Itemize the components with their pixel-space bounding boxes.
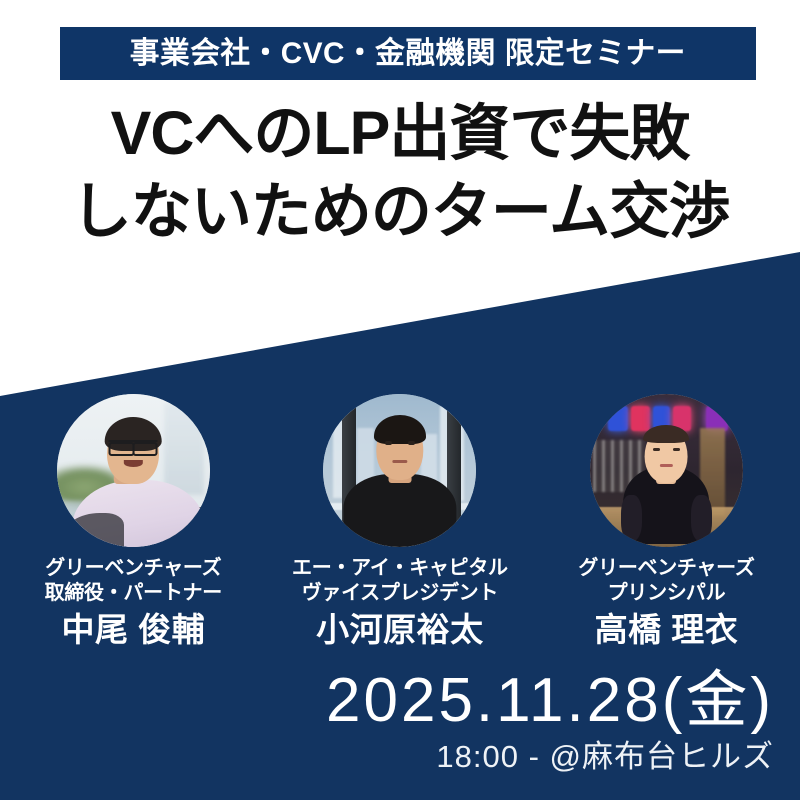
speaker-card-3: グリーベンチャーズ プリンシパル 高橋 理衣 bbox=[533, 394, 800, 650]
eyebrow-banner: 事業会社・CVC・金融機関 限定セミナー bbox=[60, 27, 756, 80]
speaker-role: 取締役・パートナー bbox=[0, 581, 267, 606]
avatar bbox=[57, 394, 210, 547]
speaker-caption: グリーベンチャーズ プリンシパル 高橋 理衣 bbox=[533, 556, 800, 650]
avatar bbox=[590, 394, 743, 547]
speaker-company: グリーベンチャーズ bbox=[533, 556, 800, 581]
speaker-role: ヴァイスプレジデント bbox=[267, 581, 534, 606]
event-date: 2025.11.28(金) bbox=[326, 666, 774, 736]
avatar bbox=[323, 394, 476, 547]
seminar-poster: 事業会社・CVC・金融機関 限定セミナー VCへのLP出資で失敗 しないためのタ… bbox=[0, 0, 800, 800]
speaker-card-1: グリーベンチャーズ 取締役・パートナー 中尾 俊輔 bbox=[0, 394, 267, 650]
speaker-caption: グリーベンチャーズ 取締役・パートナー 中尾 俊輔 bbox=[0, 556, 267, 650]
speaker-name: 中尾 俊輔 bbox=[0, 610, 267, 650]
event-details: 2025.11.28(金) 18:00 - @麻布台ヒルズ bbox=[326, 666, 774, 776]
event-time-venue: 18:00 - @麻布台ヒルズ bbox=[326, 738, 774, 776]
speaker-card-2: エー・アイ・キャピタル ヴァイスプレジデント 小河原裕太 bbox=[267, 394, 534, 650]
speaker-company: エー・アイ・キャピタル bbox=[267, 556, 534, 581]
speaker-caption: エー・アイ・キャピタル ヴァイスプレジデント 小河原裕太 bbox=[267, 556, 534, 650]
title-line-1: VCへのLP出資で失敗 bbox=[0, 94, 800, 172]
eyebrow-text: 事業会社・CVC・金融機関 限定セミナー bbox=[130, 39, 686, 69]
speaker-name: 高橋 理衣 bbox=[533, 610, 800, 650]
speaker-name: 小河原裕太 bbox=[267, 610, 534, 650]
page-title: VCへのLP出資で失敗 しないためのターム交渉 bbox=[0, 94, 800, 250]
speaker-company: グリーベンチャーズ bbox=[0, 556, 267, 581]
title-line-2: しないためのターム交渉 bbox=[0, 172, 800, 250]
speaker-list: グリーベンチャーズ 取締役・パートナー 中尾 俊輔 bbox=[0, 394, 800, 650]
speaker-role: プリンシパル bbox=[533, 581, 800, 606]
